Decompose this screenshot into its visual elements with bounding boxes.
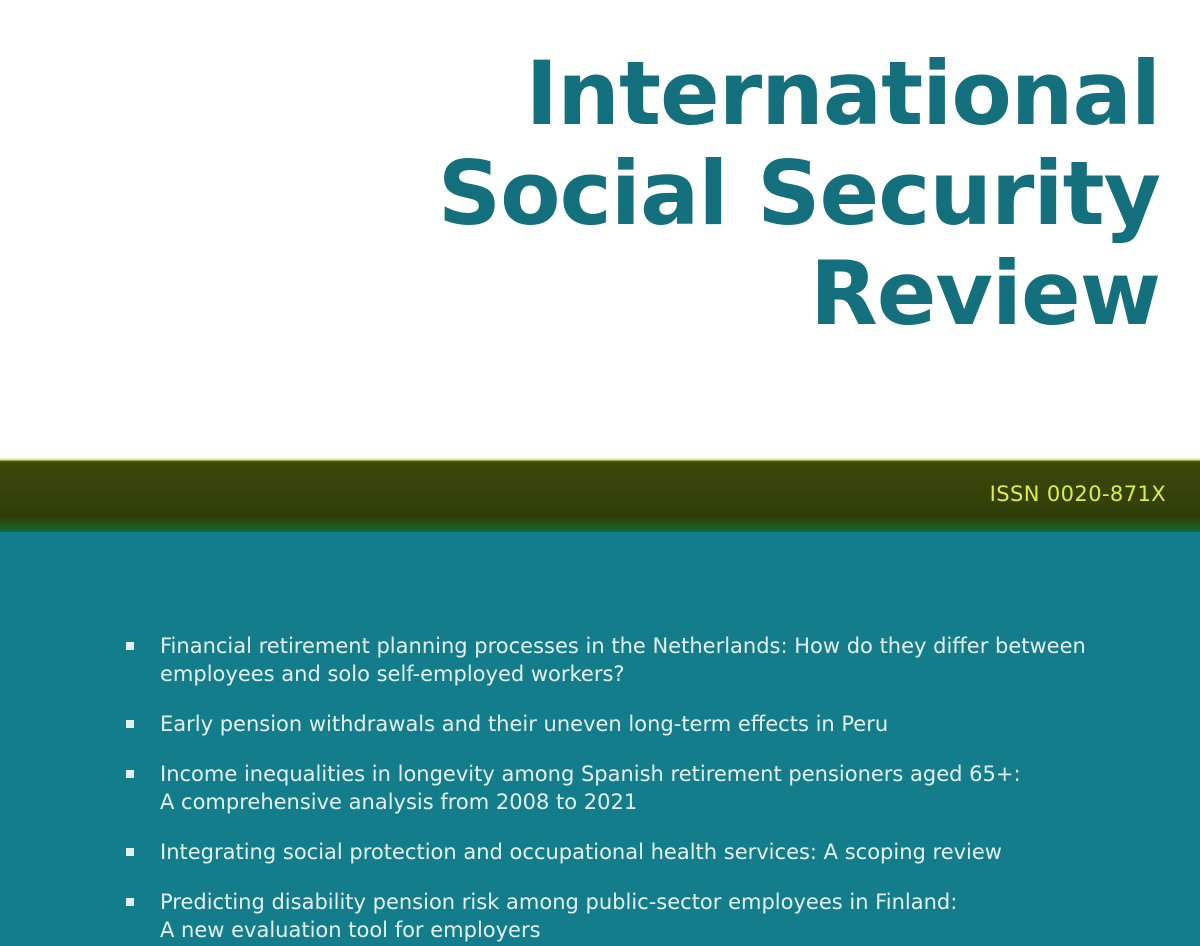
list-item[interactable]: Integrating social protection and occupa… (122, 838, 1082, 866)
list-item[interactable]: Early pension withdrawals and their unev… (122, 710, 1082, 738)
article-title-line: A new evaluation tool for employers (160, 916, 1082, 944)
article-title-line: employees and solo self-employed workers… (160, 660, 1082, 688)
article-title-line: Income inequalities in longevity among S… (160, 760, 1082, 788)
article-title-line: Financial retirement planning processes … (160, 632, 1082, 660)
article-title-line: Predicting disability pension risk among… (160, 888, 1082, 916)
journal-title-line-3: Review (40, 244, 1160, 344)
article-title-line: Early pension withdrawals and their unev… (160, 710, 1082, 738)
contents-panel: Financial retirement planning processes … (0, 532, 1200, 946)
issn-band: ISSN 0020-871X (0, 458, 1200, 532)
journal-title-line-2: Social Security (40, 144, 1160, 244)
square-bullet-icon (126, 720, 134, 728)
square-bullet-icon (126, 848, 134, 856)
article-title-line: Integrating social protection and occupa… (160, 838, 1082, 866)
square-bullet-icon (126, 642, 134, 650)
square-bullet-icon (126, 898, 134, 906)
masthead: International Social Security Review (0, 0, 1200, 458)
list-item[interactable]: Income inequalities in longevity among S… (122, 760, 1082, 816)
journal-title: International Social Security Review (40, 44, 1160, 344)
square-bullet-icon (126, 770, 134, 778)
journal-cover: International Social Security Review ISS… (0, 0, 1200, 946)
article-title-line: A comprehensive analysis from 2008 to 20… (160, 788, 1082, 816)
list-item[interactable]: Financial retirement planning processes … (122, 632, 1082, 688)
issn-label: ISSN 0020-871X (990, 482, 1166, 506)
list-item[interactable]: Predicting disability pension risk among… (122, 888, 1082, 944)
journal-title-line-1: International (40, 44, 1160, 144)
article-list: Financial retirement planning processes … (122, 632, 1082, 944)
